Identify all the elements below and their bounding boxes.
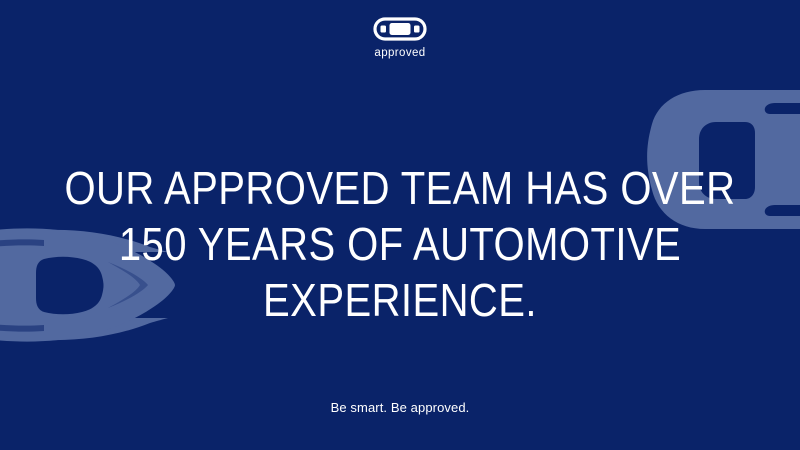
approved-promo-slide: approved OUR APPROVED TEAM HAS OVER 150 …: [0, 0, 800, 450]
brand-logo: approved: [0, 17, 800, 60]
headline: OUR APPROVED TEAM HAS OVER 150 YEARS OF …: [0, 160, 800, 328]
tagline: Be smart. Be approved.: [0, 399, 800, 416]
headline-line-3: EXPERIENCE.: [52, 272, 748, 328]
logo-wordmark: approved: [374, 48, 425, 60]
headline-line-2: 150 YEARS OF AUTOMOTIVE: [52, 216, 748, 272]
approved-car-logo-icon: [373, 17, 427, 41]
headline-line-1: OUR APPROVED TEAM HAS OVER: [52, 160, 748, 216]
